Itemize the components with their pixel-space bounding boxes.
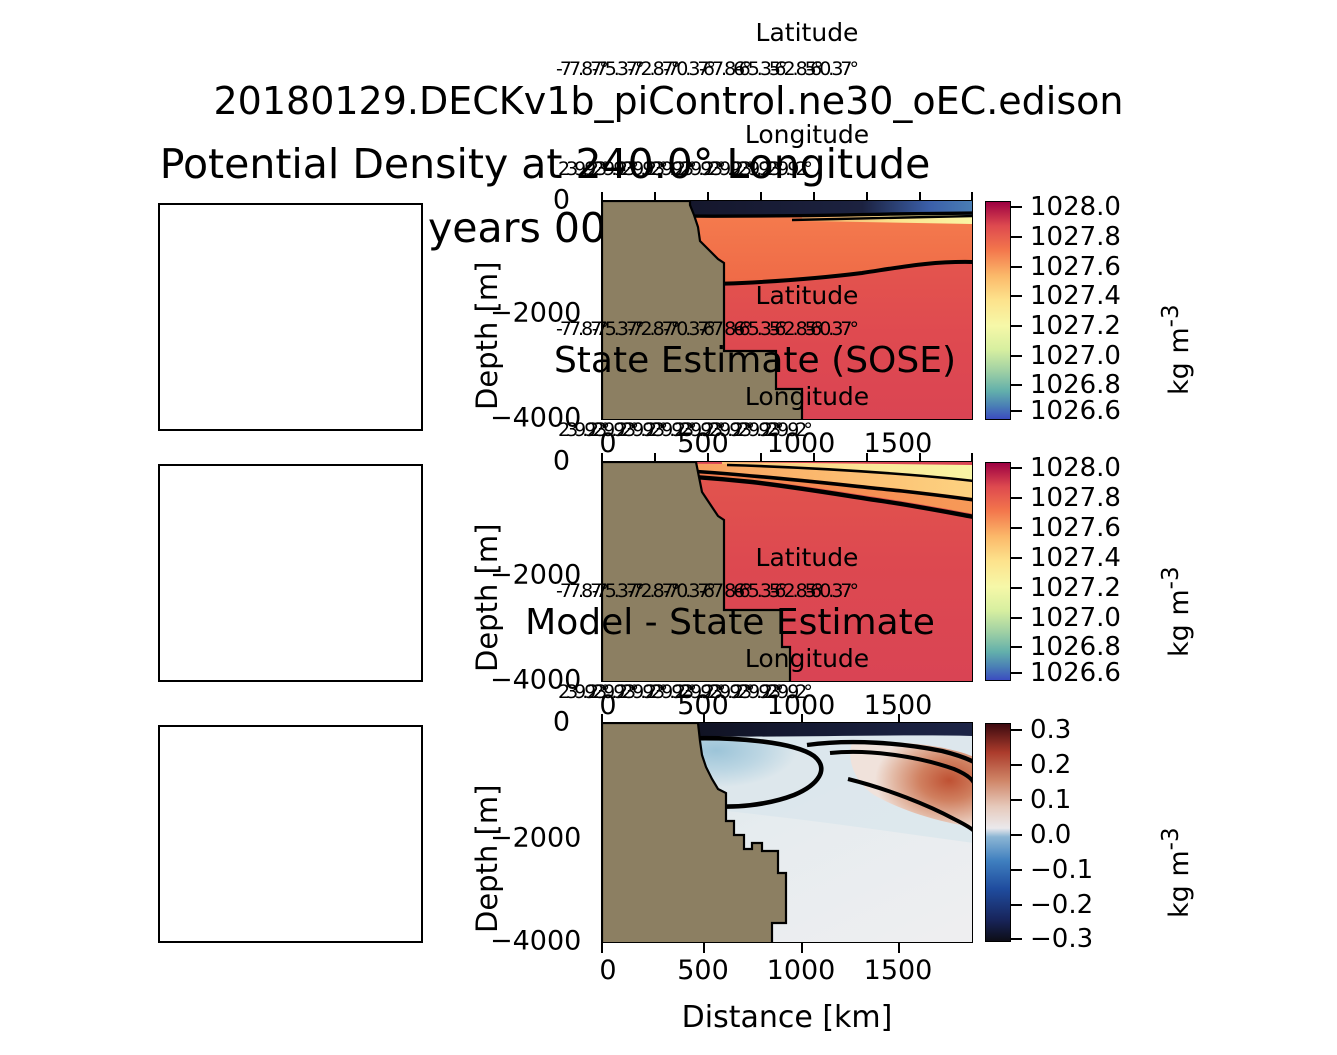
cbar-unit-exp: -3 <box>1158 304 1184 327</box>
distance-tick-1500-row1: 1500 <box>864 428 933 459</box>
cbar-label: 1027.6 <box>1030 513 1121 543</box>
colorbar-unit-panel1: kg m-3 <box>1158 304 1195 395</box>
cbar-tickmark <box>1011 646 1022 648</box>
longitude-tick-row-overlay-1: 239.92°239.92°239.92°239.92°239.92°239.9… <box>558 419 790 441</box>
cbar-label: 0.2 <box>1030 750 1071 780</box>
colorbar-unit-panel3: kg m-3 <box>1158 827 1195 918</box>
distance-tickmark <box>601 943 603 953</box>
cbar-label: 1027.6 <box>1030 252 1121 282</box>
distance-tickmark <box>801 943 803 953</box>
depth-tick-0-panel3: 0 <box>490 707 570 738</box>
cbar-tickmark <box>1011 557 1022 559</box>
longitude-tick-row-overlay-2: 239.92°239.92°239.92°239.92°239.92°239.9… <box>558 681 790 703</box>
colorbar-gradient <box>986 724 1010 941</box>
cbar-tickmark <box>1011 729 1022 731</box>
lat-tick: -60.37° <box>806 580 856 602</box>
map-axes-placeholder-state-estimate <box>158 464 423 682</box>
distance-tick-500-row2: 500 <box>677 690 729 721</box>
cross-section-panel-difference[interactable] <box>601 722 973 943</box>
cbar-tickmark <box>1011 587 1022 589</box>
lat-tickmark <box>971 453 973 462</box>
longitude-axis-label-panel1: Longitude <box>605 120 1009 149</box>
figure-canvas: 20180129.DECKv1b_piControl.ne30_oEC.edis… <box>0 0 1337 1055</box>
cbar-tickmark <box>1011 206 1022 208</box>
panel-title-difference: Model - State Estimate <box>390 602 1070 643</box>
cbar-unit-text: kg m <box>1164 850 1195 918</box>
cbar-tickmark <box>1011 266 1022 268</box>
cbar-tickmark <box>1011 410 1022 412</box>
longitude-tick-row-panel1: 239.92°239.92°239.92°239.92°239.92°239.9… <box>558 158 790 180</box>
colorbar-gradient <box>986 202 1010 419</box>
distance-tick-1500-row2: 1500 <box>864 690 933 721</box>
distance-tick-0-bottom: 0 <box>599 955 616 986</box>
cbar-label: 1027.8 <box>1030 222 1121 252</box>
depth-axis-label-panel2: Depth [m] <box>470 524 504 672</box>
colorbar-density-panel1[interactable] <box>985 201 1011 420</box>
cbar-unit-exp: -3 <box>1158 827 1184 850</box>
cbar-tickmark <box>1011 325 1022 327</box>
lon-tick: 239.92° <box>761 158 809 180</box>
depth-axis-label-panel3: Depth [m] <box>470 785 504 933</box>
colorbar-gradient <box>986 463 1010 680</box>
cbar-tickmark <box>1011 904 1022 906</box>
lat-tickmark <box>654 453 656 462</box>
cbar-tickmark <box>1011 834 1022 836</box>
cbar-tickmark <box>1011 295 1022 297</box>
lat-tickmark <box>707 192 709 201</box>
latitude-axis-label-overlay-2: Latitude <box>605 543 1009 572</box>
lat-tickmark <box>760 192 762 201</box>
cbar-tickmark <box>1011 467 1022 469</box>
map-axes-placeholder-difference <box>158 725 423 943</box>
cbar-unit-text: kg m <box>1164 327 1195 395</box>
cbar-label: 1027.0 <box>1030 603 1121 633</box>
lat-tickmark <box>760 453 762 462</box>
lat-tick: -60.37° <box>806 58 856 80</box>
distance-tickmark <box>703 943 705 953</box>
longitude-axis-label-overlay-1: Longitude <box>605 382 1009 411</box>
cbar-tickmark <box>1011 938 1022 940</box>
cbar-label: −0.2 <box>1030 890 1093 920</box>
map-axes-placeholder-model <box>158 203 423 431</box>
lat-tickmark <box>866 192 868 201</box>
cbar-tickmark <box>1011 764 1022 766</box>
cbar-label: 1027.4 <box>1030 281 1121 311</box>
distance-tick-500-row1: 500 <box>677 428 729 459</box>
cbar-tickmark <box>1011 799 1022 801</box>
depth-axis-label-panel1: Depth [m] <box>470 262 504 410</box>
lat-tickmark <box>971 192 973 201</box>
distance-tickmark <box>898 943 900 953</box>
cbar-tickmark <box>1011 672 1022 674</box>
latitude-axis-label-overlay-1: Latitude <box>605 281 1009 310</box>
colorbar-unit-panel2: kg m-3 <box>1158 566 1195 657</box>
cbar-tickmark <box>1011 497 1022 499</box>
cbar-label: 1027.2 <box>1030 311 1121 341</box>
cbar-label: −0.1 <box>1030 855 1093 885</box>
cbar-unit-exp: -3 <box>1158 566 1184 589</box>
colorbar-density-panel2[interactable] <box>985 462 1011 681</box>
cbar-tickmark <box>1011 236 1022 238</box>
latitude-tick-row-overlay-2: -77.87°-75.37°-72.87°-70.37°-67.86°-65.3… <box>556 580 842 602</box>
cbar-label: 1027.2 <box>1030 573 1121 603</box>
depth-tick-4000-panel3: −4000 <box>490 926 570 957</box>
cbar-tickmark <box>1011 384 1022 386</box>
cbar-label: 1027.8 <box>1030 483 1121 513</box>
cbar-label: 1028.0 <box>1030 453 1121 483</box>
cbar-label: 1026.6 <box>1030 396 1121 426</box>
latitude-axis-label-panel1: Latitude <box>605 18 1009 47</box>
cbar-tickmark <box>1011 355 1022 357</box>
cbar-label: 0.3 <box>1030 715 1071 745</box>
figure-run-title: 20180129.DECKv1b_piControl.ne30_oEC.edis… <box>0 79 1337 123</box>
distance-tick-0-row1: 0 <box>599 428 616 459</box>
cbar-label: −0.3 <box>1030 924 1093 954</box>
distance-tick-0-row2: 0 <box>599 690 616 721</box>
lat-tick: -60.37° <box>806 318 856 340</box>
cbar-label: 1028.0 <box>1030 192 1121 222</box>
depth-tick-0-panel2: 0 <box>490 446 570 477</box>
distance-tick-1000-row2: 1000 <box>767 690 836 721</box>
colorbar-anomaly-panel3[interactable] <box>985 723 1011 942</box>
lat-tickmark <box>601 192 603 201</box>
difference-field <box>602 723 973 943</box>
cbar-label: 1027.0 <box>1030 341 1121 371</box>
distance-tick-500-bottom: 500 <box>677 955 729 986</box>
cbar-tickmark <box>1011 527 1022 529</box>
cbar-unit-text: kg m <box>1164 589 1195 657</box>
latitude-tick-row-panel1: -77.87°-75.37°-72.87°-70.37°-67.86°-65.3… <box>556 58 842 80</box>
cbar-label: 1027.4 <box>1030 543 1121 573</box>
depth-tick-0-panel1: 0 <box>490 185 570 216</box>
lat-tickmark <box>654 192 656 201</box>
lat-tickmark <box>919 192 921 201</box>
distance-tick-1500-bottom: 1500 <box>864 955 933 986</box>
distance-tick-1000-bottom: 1000 <box>767 955 836 986</box>
cbar-tickmark <box>1011 869 1022 871</box>
lat-tickmark <box>813 192 815 201</box>
longitude-axis-label-overlay-2: Longitude <box>605 644 1009 673</box>
distance-axis-label: Distance [km] <box>601 1000 973 1035</box>
cbar-label: 0.0 <box>1030 820 1071 850</box>
cbar-label: 1026.6 <box>1030 658 1121 688</box>
depth-tick-2000-panel3: −2000 <box>490 823 570 854</box>
cbar-label: 0.1 <box>1030 785 1071 815</box>
latitude-tick-row-overlay-1: -77.87°-75.37°-72.87°-70.37°-67.86°-65.3… <box>556 318 842 340</box>
distance-tick-1000-row1: 1000 <box>767 428 836 459</box>
cbar-tickmark <box>1011 617 1022 619</box>
